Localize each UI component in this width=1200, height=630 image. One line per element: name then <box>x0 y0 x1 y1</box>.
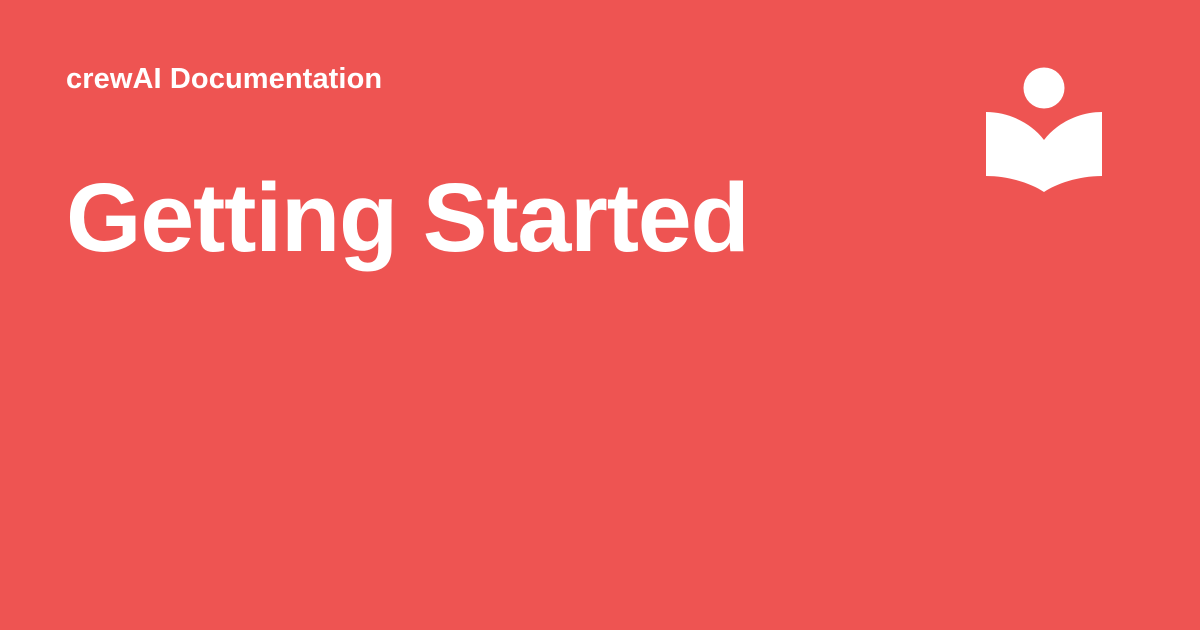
card-text-block: crewAI Documentation Getting Started <box>66 62 946 271</box>
open-book-shape <box>986 112 1102 192</box>
logo <box>984 66 1104 196</box>
social-card: crewAI Documentation Getting Started <box>0 0 1200 630</box>
site-name: crewAI Documentation <box>66 62 946 97</box>
open-book-reader-icon <box>984 66 1104 196</box>
page-title: Getting Started <box>66 97 946 272</box>
reader-head-shape <box>1024 68 1065 109</box>
